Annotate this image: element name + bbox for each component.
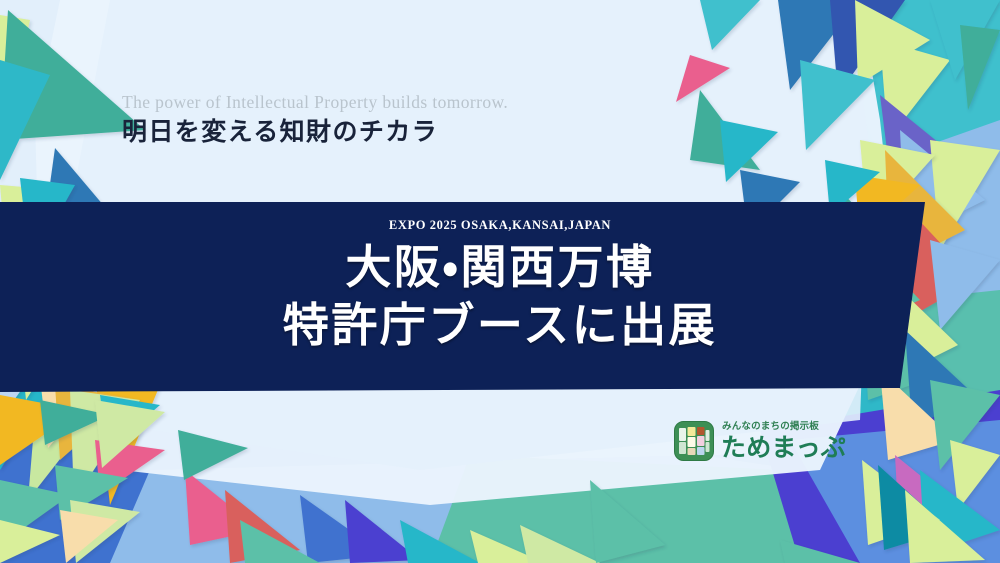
logo-tagline: みんなのまちの掲示板 (722, 422, 846, 432)
tagline-english: The power of Intellectual Property build… (122, 92, 508, 114)
poster-stage: The power of Intellectual Property build… (0, 0, 1000, 563)
tamemap-logo[interactable]: みんなのまちの掲示板 ためまっぷ (674, 421, 846, 461)
logo-name: ためまっぷ (721, 435, 846, 460)
tagline-japanese: 明日を変える知財のチカラ (122, 116, 508, 147)
triangle-confetti-background (0, 0, 1000, 563)
tamemap-bulletin-board-icon (674, 421, 714, 461)
logo-wordmark: みんなのまちの掲示板 ためまっぷ (721, 422, 846, 460)
tagline-block: The power of Intellectual Property build… (122, 92, 508, 147)
